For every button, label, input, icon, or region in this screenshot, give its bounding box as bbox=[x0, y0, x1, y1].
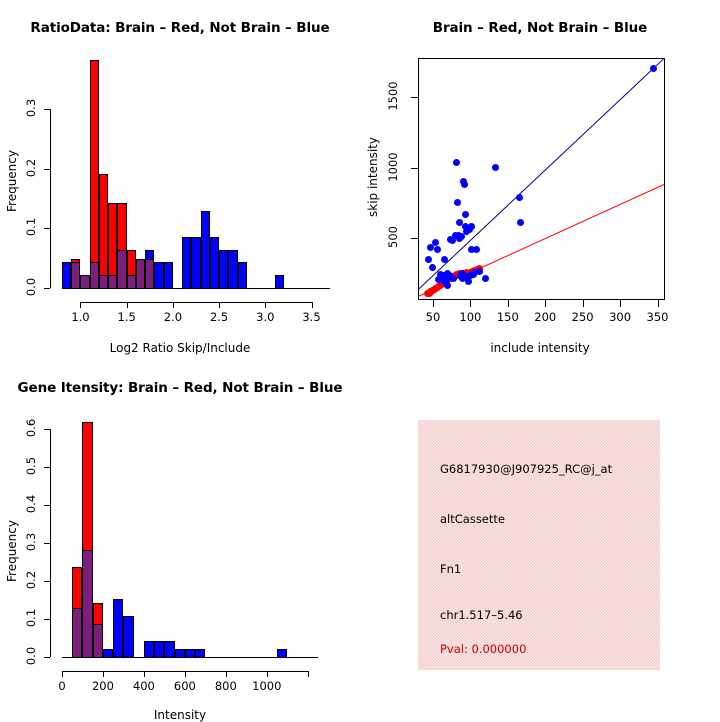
scatter-xtick-label: 200 bbox=[525, 310, 565, 324]
panel-intensity-scatter: Brain – Red, Not Brain – Blue 5001000150… bbox=[360, 0, 720, 360]
scatter-xtick-label: 50 bbox=[413, 310, 453, 324]
ratio-histogram-title: RatioData: Brain – Red, Not Brain – Blue bbox=[0, 20, 360, 36]
scatter-ytick bbox=[411, 97, 418, 98]
ratio-xtick bbox=[127, 302, 128, 308]
gene-bar-overlap bbox=[82, 550, 92, 658]
gene-ytick bbox=[44, 657, 50, 658]
panel-ratio-histogram: RatioData: Brain – Red, Not Brain – Blue… bbox=[0, 0, 360, 360]
gene-ytick bbox=[44, 505, 50, 506]
scatter-xtick bbox=[658, 300, 659, 307]
ratio-bar-red bbox=[90, 60, 99, 289]
gene-ytick-label: 0.0 bbox=[24, 641, 38, 671]
gene-xtick bbox=[226, 671, 227, 677]
gene-xtick-label: 200 bbox=[81, 679, 125, 693]
gene-symbol-text: Fn1 bbox=[440, 562, 461, 576]
ratio-bar-blue bbox=[62, 262, 71, 289]
scatter-xtick-label: 300 bbox=[600, 310, 640, 324]
scatter-ytick bbox=[411, 168, 418, 169]
scatter-xtick-label: 100 bbox=[450, 310, 490, 324]
scatter-xtick bbox=[470, 300, 471, 307]
gene-ytick bbox=[44, 619, 50, 620]
ratio-bar-overlap bbox=[136, 259, 145, 289]
gene-ytick-label: 0.4 bbox=[24, 489, 38, 519]
scatter-xtick bbox=[545, 300, 546, 307]
scatter-xtick-label: 350 bbox=[638, 310, 678, 324]
ratio-bar-overlap bbox=[71, 262, 80, 289]
ratio-histogram-ylabel: Frequency bbox=[5, 152, 19, 212]
ratio-xtick-label: 3.0 bbox=[243, 310, 287, 324]
gene-xtick-label: 1000 bbox=[245, 679, 289, 693]
gene-ytick-label: 0.2 bbox=[24, 565, 38, 595]
ratio-xtick bbox=[173, 302, 174, 308]
gene-ytick-label: 0.5 bbox=[24, 451, 38, 481]
ratio-bar-overlap bbox=[99, 275, 108, 289]
scatter-xtick-label: 150 bbox=[488, 310, 528, 324]
panel-gene-intensity-histogram: Gene Itensity: Brain – Red, Not Brain – … bbox=[0, 360, 360, 720]
gene-ytick-label: 0.1 bbox=[24, 603, 38, 633]
gene-ytick bbox=[44, 581, 50, 582]
ratio-ytick-label: 0.3 bbox=[24, 93, 38, 123]
ratio-bar-overlap bbox=[80, 275, 89, 289]
scatter-point-not-brain bbox=[473, 246, 480, 253]
gene-bar-blue bbox=[144, 641, 154, 658]
scatter-point-not-brain bbox=[517, 219, 524, 226]
gene-xtick-label: 0 bbox=[40, 679, 84, 693]
gene-bar-blue bbox=[175, 649, 185, 658]
ratio-xtick-label: 3.5 bbox=[290, 310, 334, 324]
gene-bar-blue bbox=[164, 641, 174, 658]
ratio-xtick bbox=[312, 302, 313, 308]
ratio-xtick-label: 1.0 bbox=[58, 310, 102, 324]
ratio-bar-blue bbox=[228, 250, 237, 289]
scatter-point-not-brain bbox=[434, 246, 441, 253]
scatter-xtick bbox=[583, 300, 584, 307]
ratio-bar-blue bbox=[275, 275, 284, 289]
ratio-histogram-xlabel: Log2 Ratio Skip/Include bbox=[0, 341, 360, 355]
scatter-clip bbox=[418, 58, 665, 300]
ratio-bar-overlap bbox=[108, 275, 117, 289]
ratio-bar-blue bbox=[201, 211, 210, 289]
not-brain-fit-line bbox=[418, 58, 664, 289]
scatter-title: Brain – Red, Not Brain – Blue bbox=[360, 20, 720, 36]
scatter-ytick-label: 1000 bbox=[386, 148, 400, 186]
scatter-point-not-brain bbox=[516, 194, 523, 201]
ratio-ytick bbox=[44, 169, 50, 170]
gene-yaxis bbox=[50, 429, 51, 657]
gene-ytick bbox=[44, 543, 50, 544]
gene-bar-blue bbox=[103, 649, 113, 658]
gene-ytick bbox=[44, 467, 50, 468]
scatter-xtick bbox=[620, 300, 621, 307]
scatter-point-not-brain bbox=[425, 256, 432, 263]
scatter-point-not-brain bbox=[476, 268, 483, 275]
ratio-ytick bbox=[44, 288, 50, 289]
scatter-point-not-brain bbox=[432, 239, 439, 246]
scatter-point-not-brain bbox=[461, 181, 468, 188]
pval-text: Pval: 0.000000 bbox=[440, 642, 526, 656]
scatter-point-not-brain bbox=[492, 164, 499, 171]
scatter-point-not-brain bbox=[468, 223, 475, 230]
gene-xtick-label: 600 bbox=[163, 679, 207, 693]
gene-xtick-label: 400 bbox=[122, 679, 166, 693]
scatter-ytick bbox=[411, 238, 418, 239]
ratio-ytick bbox=[44, 109, 50, 110]
ratio-ytick-label: 0.0 bbox=[24, 272, 38, 302]
event-type-text: altCassette bbox=[440, 512, 505, 526]
gene-bar-blue bbox=[154, 641, 164, 658]
gene-xtick bbox=[62, 671, 63, 677]
scatter-point-not-brain bbox=[429, 264, 436, 271]
gene-bar-overlap bbox=[72, 608, 82, 658]
gene-ytick-label: 0.3 bbox=[24, 527, 38, 557]
scatter-xtick bbox=[433, 300, 434, 307]
gene-bar-blue bbox=[185, 649, 195, 658]
scatter-ytick-label: 1500 bbox=[386, 77, 400, 115]
ratio-bar-overlap bbox=[145, 259, 154, 289]
ratio-bar-blue bbox=[182, 237, 191, 289]
gene-xtick bbox=[308, 671, 309, 677]
scatter-xtick bbox=[508, 300, 509, 307]
gene-bar-blue bbox=[123, 616, 133, 658]
ratio-xtick bbox=[80, 302, 81, 308]
scatter-point-not-brain bbox=[454, 199, 461, 206]
ratio-bar-overlap bbox=[127, 275, 136, 289]
ratio-xtick bbox=[219, 302, 220, 308]
ratio-xtick-label: 2.0 bbox=[151, 310, 195, 324]
gene-xtick bbox=[267, 671, 268, 677]
scatter-point-not-brain bbox=[441, 256, 448, 263]
gene-bar-blue bbox=[195, 649, 205, 658]
probe-id-text: G6817930@J907925_RC@j_at bbox=[440, 462, 612, 476]
scatter-xlabel: include intensity bbox=[360, 341, 720, 355]
gene-ytick-label: 0.6 bbox=[24, 413, 38, 443]
ratio-bar-red bbox=[99, 174, 108, 289]
ratio-ytick-label: 0.2 bbox=[24, 153, 38, 183]
gene-bar-blue bbox=[113, 599, 123, 658]
scatter-point-not-brain bbox=[650, 65, 657, 72]
scatter-ylabel: skip intensity bbox=[366, 147, 380, 217]
locus-text: chr1.517–5.46 bbox=[440, 608, 523, 622]
gene-bar-overlap bbox=[93, 624, 103, 658]
ratio-ytick bbox=[44, 228, 50, 229]
ratio-xtick bbox=[265, 302, 266, 308]
ratio-bar-blue bbox=[210, 237, 219, 289]
ratio-bar-blue bbox=[154, 262, 163, 289]
scatter-ytick-label: 500 bbox=[386, 218, 400, 256]
ratio-xtick-label: 1.5 bbox=[105, 310, 149, 324]
ratio-bar-overlap bbox=[117, 250, 126, 289]
ratio-xtick-label: 2.5 bbox=[197, 310, 241, 324]
scatter-point-not-brain bbox=[462, 211, 469, 218]
gene-ytick bbox=[44, 429, 50, 430]
ratio-ytick-label: 0.1 bbox=[24, 212, 38, 242]
scatter-point-not-brain bbox=[453, 159, 460, 166]
gene-xtick bbox=[185, 671, 186, 677]
ratio-bar-blue bbox=[238, 262, 247, 289]
gene-histogram-title: Gene Itensity: Brain – Red, Not Brain – … bbox=[0, 380, 360, 396]
scatter-point-not-brain bbox=[482, 275, 489, 282]
gene-bar-blue bbox=[277, 649, 287, 658]
ratio-bar-blue bbox=[219, 250, 228, 289]
gene-xtick-label: 800 bbox=[204, 679, 248, 693]
gene-info-box: G6817930@J907925_RC@j_at altCassette Fn1… bbox=[418, 420, 660, 670]
ratio-yaxis bbox=[50, 109, 51, 288]
gene-xtick bbox=[144, 671, 145, 677]
gene-histogram-ylabel: Frequency bbox=[5, 522, 19, 582]
panel-gene-info: G6817930@J907925_RC@j_at altCassette Fn1… bbox=[360, 360, 720, 720]
ratio-bar-blue bbox=[164, 262, 173, 289]
ratio-xaxis bbox=[80, 302, 311, 303]
scatter-xtick-label: 250 bbox=[563, 310, 603, 324]
ratio-bar-blue bbox=[191, 237, 200, 289]
scatter-point-not-brain bbox=[444, 282, 451, 289]
gene-xtick bbox=[103, 671, 104, 677]
ratio-bar-overlap bbox=[90, 262, 99, 289]
